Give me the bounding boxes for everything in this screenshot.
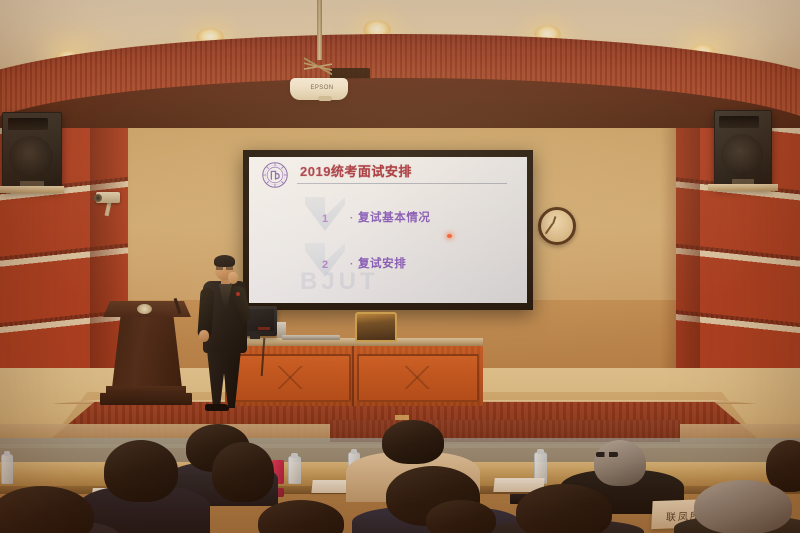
monitor-brand-badge <box>258 327 270 330</box>
audience-head <box>516 484 612 533</box>
lecture-hall-photo: EPSON 2019统考面试安排 1 ·复试基本情况 2 ·复试安排 BJUT <box>0 0 800 533</box>
presenter-shoes <box>205 404 229 411</box>
presenter-hand-right <box>228 272 238 284</box>
speaker-port <box>719 116 758 128</box>
left-wall-shelf <box>0 186 64 193</box>
bottle-cap <box>537 449 544 454</box>
water-bottle <box>288 456 301 484</box>
bottle-cap <box>351 449 357 454</box>
table-panel-diamond <box>366 366 470 389</box>
audience-head <box>382 420 444 464</box>
audience-head <box>694 480 792 533</box>
bottle-cap <box>291 453 298 458</box>
office-chair <box>355 312 397 342</box>
camera-lens-icon <box>94 194 102 202</box>
table-seam <box>352 346 354 406</box>
projector-lens-icon <box>318 96 332 101</box>
keyboard <box>282 335 340 340</box>
podium-plinth <box>100 393 192 405</box>
laser-pointer-dot <box>447 234 452 238</box>
university-emblem-icon <box>262 162 288 188</box>
speaker-cone <box>721 134 764 177</box>
speaker-cone <box>9 136 53 179</box>
audience-head <box>104 440 178 502</box>
audience-head <box>426 500 496 533</box>
bullet-dot-icon: · <box>350 213 354 224</box>
speaker-port <box>8 118 49 130</box>
bottle-cap <box>4 451 10 456</box>
speaker-left <box>2 112 62 190</box>
audience-head <box>594 440 646 486</box>
table-panel <box>231 354 351 402</box>
podium-seal-icon <box>137 304 152 314</box>
slide-watermark: BJUT <box>300 268 500 298</box>
wall-clock-icon <box>538 207 576 245</box>
table-panel-diamond <box>240 366 342 389</box>
audience-glasses-icon <box>596 452 618 457</box>
projector-brand-label: EPSON <box>305 84 339 92</box>
slide-item-number-1: 1 <box>305 213 345 225</box>
presenter-hand-left <box>199 330 209 342</box>
right-wall-shelf <box>708 184 778 191</box>
water-bottle <box>1 454 13 484</box>
slide-title: 2019统考面试安排 <box>300 163 470 180</box>
slide-item-label-1: 复试基本情况 <box>358 212 431 224</box>
speaker-right <box>714 110 772 188</box>
podium-body <box>112 311 182 388</box>
table-panel <box>357 354 479 402</box>
presenter-lapel-pin <box>236 292 240 296</box>
slide-title-rule <box>297 183 507 184</box>
slide-item-1: ·复试基本情况 <box>350 209 431 225</box>
monitor-stand <box>250 334 260 339</box>
presenter-glasses-icon <box>216 266 233 270</box>
audience-head <box>212 442 274 502</box>
